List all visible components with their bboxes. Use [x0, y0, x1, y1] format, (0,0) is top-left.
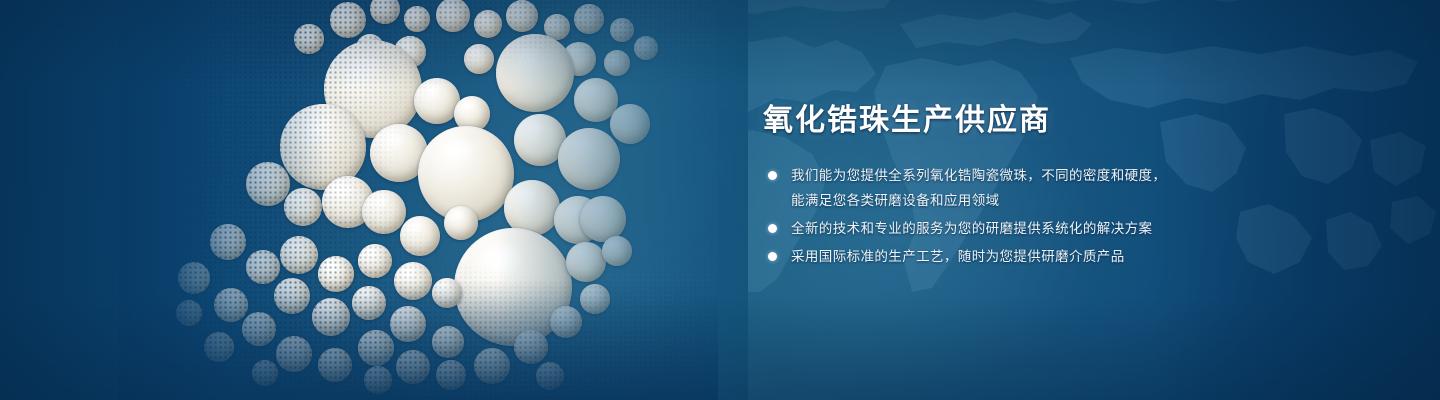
bullet-dot-icon — [768, 252, 777, 261]
list-item: 全新的技术和专业的服务为您的研磨提供系统化的解决方案 — [763, 216, 1233, 241]
list-item-line: 能满足您各类研磨设备和应用领域 — [791, 188, 1233, 213]
list-item-line: 全新的技术和专业的服务为您的研磨提供系统化的解决方案 — [791, 216, 1233, 241]
page-title: 氧化锆珠生产供应商 — [763, 104, 1233, 137]
list-item-line: 采用国际标准的生产工艺，随时为您提供研磨介质产品 — [791, 244, 1233, 269]
bullet-dot-icon — [768, 224, 777, 233]
bullet-dot-icon — [768, 171, 777, 180]
list-item-line: 我们能为您提供全系列氧化锆陶瓷微珠，不同的密度和硬度， — [791, 163, 1233, 188]
banner-copy-block: 氧化锆珠生产供应商 我们能为您提供全系列氧化锆陶瓷微珠，不同的密度和硬度， 能满… — [763, 104, 1233, 272]
hero-banner: 氧化锆珠生产供应商 我们能为您提供全系列氧化锆陶瓷微珠，不同的密度和硬度， 能满… — [0, 0, 1440, 400]
feature-list: 我们能为您提供全系列氧化锆陶瓷微珠，不同的密度和硬度， 能满足您各类研磨设备和应… — [763, 163, 1233, 269]
list-item: 我们能为您提供全系列氧化锆陶瓷微珠，不同的密度和硬度， 能满足您各类研磨设备和应… — [763, 163, 1233, 213]
list-item: 采用国际标准的生产工艺，随时为您提供研磨介质产品 — [763, 244, 1233, 269]
